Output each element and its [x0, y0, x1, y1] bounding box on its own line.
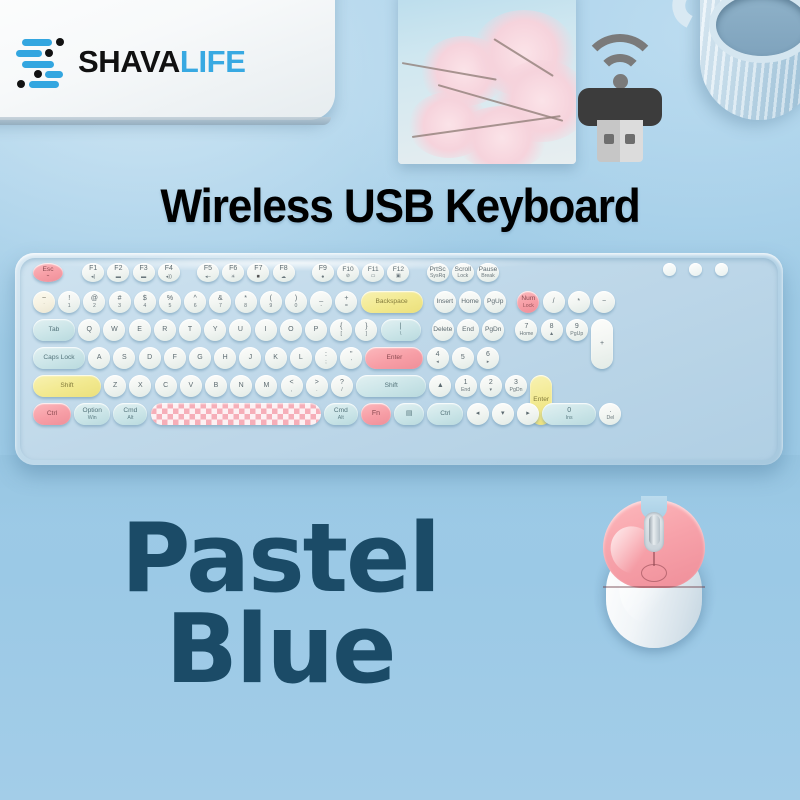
key-sublabel: 4: [143, 303, 146, 309]
key-p[interactable]: P: [305, 319, 327, 341]
key-9[interactable]: 9PgUp: [566, 319, 588, 341]
keycap-field[interactable]: Esc⌁F1◂)F2▬F3▬F4◂))F5◂−F6☀F7◾F8☁F9●F10⊘F…: [15, 253, 783, 465]
key-label: F10: [342, 266, 353, 274]
key-sublabel: Alt: [127, 415, 133, 421]
key-[interactable]: "': [340, 347, 362, 369]
key-label: Shift: [60, 382, 73, 390]
key-label: A: [97, 354, 102, 362]
key-[interactable]: ^6: [184, 291, 206, 313]
key-f1[interactable]: F1◂): [82, 263, 104, 282]
key-2[interactable]: 2▾: [480, 375, 502, 397]
brand-name: SHAVALIFE: [78, 46, 245, 77]
key-label: ": [350, 351, 353, 359]
key-[interactable]: +: [591, 319, 613, 369]
key-sublabel: Break: [481, 273, 495, 279]
key-label: :: [325, 351, 327, 359]
key-[interactable]: @2: [83, 291, 105, 313]
key-prtsc[interactable]: PrtScSysRq: [427, 263, 449, 282]
key-sublabel: 3: [118, 303, 121, 309]
key-label: Num: [521, 295, 535, 303]
key-label: Ctrl: [440, 410, 450, 418]
key-sublabel: 6: [194, 303, 197, 309]
key-[interactable]: ◂: [467, 403, 489, 425]
key-f4[interactable]: F4◂)): [158, 263, 180, 282]
key-label: −: [602, 298, 606, 306]
key-label: Cmd: [123, 407, 137, 415]
key-label: #: [118, 295, 122, 303]
key-label: ▾: [501, 410, 505, 418]
page-title: Wireless USB Keyboard: [24, 178, 776, 233]
key-[interactable]: {[: [330, 319, 352, 341]
key-cmd[interactable]: CmdAlt: [113, 403, 147, 425]
indicator-led: [663, 263, 676, 276]
key-sublabel: ': [351, 359, 352, 365]
key-label: ▤: [406, 410, 413, 418]
key-sublabel: ▸: [487, 359, 490, 365]
key-label: C: [163, 382, 168, 390]
key-w[interactable]: W: [103, 319, 125, 341]
key-num[interactable]: NumLock: [517, 291, 539, 313]
wifi-center-dot: [613, 74, 628, 89]
key-sublabel: 5: [169, 303, 172, 309]
key-label: F5: [204, 265, 212, 273]
key-label: ^: [194, 295, 197, 303]
key-i[interactable]: I: [255, 319, 277, 341]
key-label: B: [214, 382, 219, 390]
key-6[interactable]: 6▸: [477, 347, 499, 369]
key-sublabel: End: [461, 387, 470, 393]
key-[interactable]: +=: [335, 291, 357, 313]
key-label: F4: [165, 265, 173, 273]
key-sublabel: /: [341, 387, 342, 393]
key-pgup[interactable]: PgUp: [484, 291, 506, 313]
key-label: I: [265, 326, 267, 334]
key-sublabel: 2: [93, 303, 96, 309]
key-label: G: [197, 354, 202, 362]
key-shift[interactable]: Shift: [33, 375, 101, 397]
key-label: End: [462, 326, 474, 334]
key-label: Delete: [433, 326, 452, 334]
key-[interactable]: ▤: [394, 403, 424, 425]
key-[interactable]: #3: [109, 291, 131, 313]
key-[interactable]: ▲: [429, 375, 451, 397]
key-x[interactable]: X: [129, 375, 151, 397]
key-pgdn[interactable]: PgDn: [482, 319, 504, 341]
usb-plug: [597, 120, 643, 162]
key-label: 7: [524, 323, 528, 331]
key-label: %: [167, 295, 173, 303]
key-y[interactable]: Y: [204, 319, 226, 341]
key-f11[interactable]: F11▭: [362, 263, 384, 282]
key-f10[interactable]: F10⊘: [337, 263, 359, 282]
key-1[interactable]: 1End: [455, 375, 477, 397]
key-label: U: [238, 326, 243, 334]
key-sublabel: ;: [325, 359, 326, 365]
key-label: D: [147, 354, 152, 362]
key-label: S: [122, 354, 127, 362]
key-end[interactable]: End: [457, 319, 479, 341]
key-[interactable]: *: [568, 291, 590, 313]
key-sublabel: PgDn: [510, 387, 523, 393]
key-[interactable]: ~`: [33, 291, 55, 313]
key-label: ): [295, 295, 297, 303]
key-r[interactable]: R: [154, 319, 176, 341]
key-label: F: [173, 354, 177, 362]
key-label: ◂: [476, 410, 480, 418]
key-label: W: [111, 326, 118, 334]
key-sublabel: ☁: [281, 274, 286, 280]
key-sublabel: ▬: [141, 274, 146, 280]
key-label: J: [249, 354, 253, 362]
key-f6[interactable]: F6☀: [222, 263, 244, 282]
usb-wireless-dongle-icon: [570, 30, 670, 162]
key-delete[interactable]: Delete: [432, 319, 454, 341]
key-f8[interactable]: F8☁: [273, 263, 295, 282]
key-sublabel: .: [316, 387, 317, 393]
key-label: Home: [461, 298, 479, 306]
mouse-seam: [603, 586, 705, 588]
key-sublabel: Win: [88, 415, 97, 421]
key-enter[interactable]: Enter: [365, 347, 423, 369]
key-[interactable]: :;: [315, 347, 337, 369]
key-label: Ctrl: [47, 410, 57, 418]
key-k[interactable]: K: [265, 347, 287, 369]
key-sublabel: 0: [295, 303, 298, 309]
key-j[interactable]: J: [239, 347, 261, 369]
key-label: F12: [393, 266, 404, 274]
key-8[interactable]: 8▲: [541, 319, 563, 341]
key-label: 0: [567, 407, 571, 415]
key-sublabel: ▲: [549, 331, 554, 337]
key-[interactable]: .Del: [599, 403, 621, 425]
key-label: *: [244, 295, 247, 303]
key-q[interactable]: Q: [78, 319, 100, 341]
key-n[interactable]: N: [230, 375, 252, 397]
key-label: @: [91, 295, 98, 303]
key-label: F8: [280, 265, 288, 273]
key-[interactable]: !1: [58, 291, 80, 313]
key-label: F2: [114, 265, 122, 273]
key-z[interactable]: Z: [104, 375, 126, 397]
key-sublabel: [: [340, 331, 341, 337]
brand-logo: SHAVALIFE: [14, 36, 245, 86]
key-label: }: [365, 323, 367, 331]
blossom-cluster: [454, 106, 550, 164]
key-f3[interactable]: F3▬: [133, 263, 155, 282]
color-label-line1: Pastel: [0, 516, 560, 603]
key-label: F7: [254, 265, 262, 273]
key-label: Enter: [533, 396, 549, 404]
key-label: N: [239, 382, 244, 390]
key-a[interactable]: A: [88, 347, 110, 369]
key-label: ?: [340, 379, 344, 387]
key-label: Q: [86, 326, 91, 334]
key-label: &: [218, 295, 223, 303]
color-label-line2: Blue: [0, 607, 560, 694]
key-label: 3: [514, 379, 518, 387]
key-label: Enter: [387, 354, 403, 362]
key-label: F9: [319, 265, 327, 273]
key-label: .: [609, 407, 611, 415]
key-v[interactable]: V: [180, 375, 202, 397]
key-m[interactable]: M: [255, 375, 277, 397]
key-u[interactable]: U: [229, 319, 251, 341]
key-e[interactable]: E: [129, 319, 151, 341]
key-label: Cmd: [334, 407, 348, 415]
indicator-led: [689, 263, 702, 276]
retro-round-key-wireless-keyboard[interactable]: Esc⌁F1◂)F2▬F3▬F4◂))F5◂−F6☀F7◾F8☁F9●F10⊘F…: [15, 253, 783, 465]
key-7[interactable]: 7Home: [515, 319, 537, 341]
scroll-wheel[interactable]: [649, 515, 660, 545]
key-label: M: [263, 382, 269, 390]
key-label: Backspace: [375, 298, 407, 306]
key-fn[interactable]: Fn: [361, 403, 391, 425]
key-sublabel: -: [320, 303, 322, 309]
key-sublabel: 7: [219, 303, 222, 309]
key-label: Caps Lock: [43, 354, 74, 362]
key-space[interactable]: [151, 403, 321, 425]
key-label: Insert: [437, 298, 454, 306]
key-cmd[interactable]: CmdAlt: [324, 403, 358, 425]
key-label: Y: [213, 326, 218, 334]
key-sublabel: ◂: [436, 359, 439, 365]
key-sublabel: \: [400, 331, 401, 337]
key-label: 6: [486, 351, 490, 359]
key-[interactable]: <,: [281, 375, 303, 397]
key-sublabel: ▣: [396, 273, 401, 279]
key-[interactable]: *8: [235, 291, 257, 313]
key-shift[interactable]: Shift: [356, 375, 426, 397]
wireless-mouse[interactable]: [600, 500, 708, 650]
key-sublabel: Del: [606, 415, 614, 421]
key-label: L: [299, 354, 303, 362]
key-f2[interactable]: F2▬: [107, 263, 129, 282]
key-sublabel: Lock: [457, 273, 468, 279]
key-[interactable]: ▸: [517, 403, 539, 425]
key-f5[interactable]: F5◂−: [197, 263, 219, 282]
key-label: |: [400, 323, 402, 331]
key-label: V: [188, 382, 193, 390]
key-[interactable]: ?/: [331, 375, 353, 397]
key-s[interactable]: S: [113, 347, 135, 369]
key-esc[interactable]: Esc⌁: [33, 263, 63, 282]
key-c[interactable]: C: [155, 375, 177, 397]
key-sublabel: ●: [321, 274, 324, 280]
key-label: PgUp: [487, 298, 504, 306]
key-label: K: [273, 354, 278, 362]
key-sublabel: Alt: [338, 415, 344, 421]
key-label: +: [600, 340, 604, 348]
key-label: 4: [436, 351, 440, 359]
key-label: ▸: [526, 410, 530, 418]
key-sublabel: Home: [519, 331, 533, 337]
key-label: (: [270, 295, 272, 303]
key-[interactable]: −: [593, 291, 615, 313]
key-[interactable]: |\: [381, 319, 421, 341]
brand-name-part1: SHAVA: [78, 44, 180, 79]
key-label: !: [68, 295, 70, 303]
key-home[interactable]: Home: [459, 291, 481, 313]
key-f12[interactable]: F12▣: [387, 263, 409, 282]
key-label: +: [344, 295, 348, 303]
key-[interactable]: >.: [306, 375, 328, 397]
key-f9[interactable]: F9●: [312, 263, 334, 282]
key-g[interactable]: G: [189, 347, 211, 369]
key-label: F3: [140, 265, 148, 273]
key-label: 1: [464, 379, 468, 387]
key-tab[interactable]: Tab: [33, 319, 75, 341]
key-sublabel: 8: [244, 303, 247, 309]
key-[interactable]: )0: [285, 291, 307, 313]
key-label: 8: [550, 323, 554, 331]
key-label: *: [577, 298, 580, 306]
key-label: PrtSc: [430, 266, 446, 274]
key-[interactable]: (9: [260, 291, 282, 313]
key-sublabel: 1: [68, 303, 71, 309]
key-label: _: [319, 295, 323, 303]
usb-plug-pin: [625, 134, 635, 144]
key-label: $: [143, 295, 147, 303]
key-l[interactable]: L: [290, 347, 312, 369]
key-label: F6: [229, 265, 237, 273]
key-sublabel: 9: [269, 303, 272, 309]
key-label: PgDn: [485, 326, 502, 334]
key-label: Esc: [43, 266, 54, 274]
key-label: E: [137, 326, 142, 334]
key-sublabel: ◂−: [205, 274, 211, 280]
key-label: Shift: [385, 382, 398, 390]
key-label: ~: [42, 295, 46, 303]
key-sublabel: ▭: [371, 273, 376, 279]
key-b[interactable]: B: [205, 375, 227, 397]
key-[interactable]: /: [543, 291, 565, 313]
key-sublabel: Lock: [523, 303, 534, 309]
key-[interactable]: ▾: [492, 403, 514, 425]
mouse-led-ring: [641, 564, 667, 582]
key-d[interactable]: D: [139, 347, 161, 369]
key-label: /: [553, 298, 555, 306]
key-o[interactable]: O: [280, 319, 302, 341]
key-option[interactable]: OptionWin: [74, 403, 110, 425]
key-label: {: [340, 323, 342, 331]
key-label: 2: [489, 379, 493, 387]
key-3[interactable]: 3PgDn: [505, 375, 527, 397]
key-sublabel: ⌁: [46, 273, 49, 279]
brand-name-part2: LIFE: [180, 44, 246, 79]
key-sublabel: =: [345, 303, 348, 309]
key-sublabel: ☀: [231, 274, 236, 280]
key-label: Option: [82, 407, 101, 415]
key-pause[interactable]: PauseBreak: [477, 263, 499, 282]
key-label: O: [288, 326, 293, 334]
key-scroll[interactable]: ScrollLock: [452, 263, 474, 282]
key-sublabel: Ins: [566, 415, 573, 421]
key-label: <: [290, 379, 294, 387]
key-[interactable]: $4: [134, 291, 156, 313]
color-variant-label: Pastel Blue: [0, 516, 560, 695]
key-sublabel: SysRq: [430, 273, 445, 279]
key-sublabel: ◂)): [166, 274, 172, 280]
key-sublabel: PgUp: [570, 331, 583, 337]
key-4[interactable]: 4◂: [427, 347, 449, 369]
key-sublabel: ▬: [116, 274, 121, 280]
speed-lines-logo-icon: [14, 36, 66, 86]
key-label: R: [162, 326, 167, 334]
key-label: 9: [575, 323, 579, 331]
key-sublabel: ⊘: [346, 273, 350, 279]
key-label: >: [315, 379, 319, 387]
key-t[interactable]: T: [179, 319, 201, 341]
key-label: T: [188, 326, 192, 334]
key-sublabel: ▾: [489, 387, 492, 393]
key-h[interactable]: H: [214, 347, 236, 369]
key-label: Tab: [49, 326, 60, 334]
key-f[interactable]: F: [164, 347, 186, 369]
key-sublabel: `: [43, 303, 45, 309]
key-[interactable]: }]: [355, 319, 377, 341]
key-label: Z: [113, 382, 117, 390]
key-[interactable]: %5: [159, 291, 181, 313]
key-ctrl[interactable]: Ctrl: [33, 403, 71, 425]
key-ctrl[interactable]: Ctrl: [427, 403, 463, 425]
key-[interactable]: _-: [310, 291, 332, 313]
key-0[interactable]: 0Ins: [542, 403, 596, 425]
key-label: X: [138, 382, 143, 390]
key-label: Scroll: [455, 266, 472, 274]
key-label: Pause: [479, 266, 498, 274]
key-label: F1: [89, 265, 97, 273]
key-label: ▲: [437, 382, 444, 390]
key-[interactable]: &7: [209, 291, 231, 313]
key-label: Fn: [372, 410, 380, 418]
key-label: F11: [368, 266, 379, 274]
key-5[interactable]: 5: [452, 347, 474, 369]
key-insert[interactable]: Insert: [434, 291, 456, 313]
key-sublabel: ,: [291, 387, 292, 393]
sakura-photo-card: [398, 0, 576, 164]
key-caps-lock[interactable]: Caps Lock: [33, 347, 85, 369]
key-sublabel: ◂): [91, 274, 95, 280]
key-sublabel: ◾: [255, 274, 261, 280]
usb-plug-pin: [604, 134, 614, 144]
key-sublabel: ]: [366, 331, 367, 337]
indicator-led: [715, 263, 728, 276]
key-backspace[interactable]: Backspace: [361, 291, 423, 313]
key-label: H: [223, 354, 228, 362]
key-label: 5: [461, 354, 465, 362]
key-label: P: [314, 326, 319, 334]
key-f7[interactable]: F7◾: [247, 263, 269, 282]
